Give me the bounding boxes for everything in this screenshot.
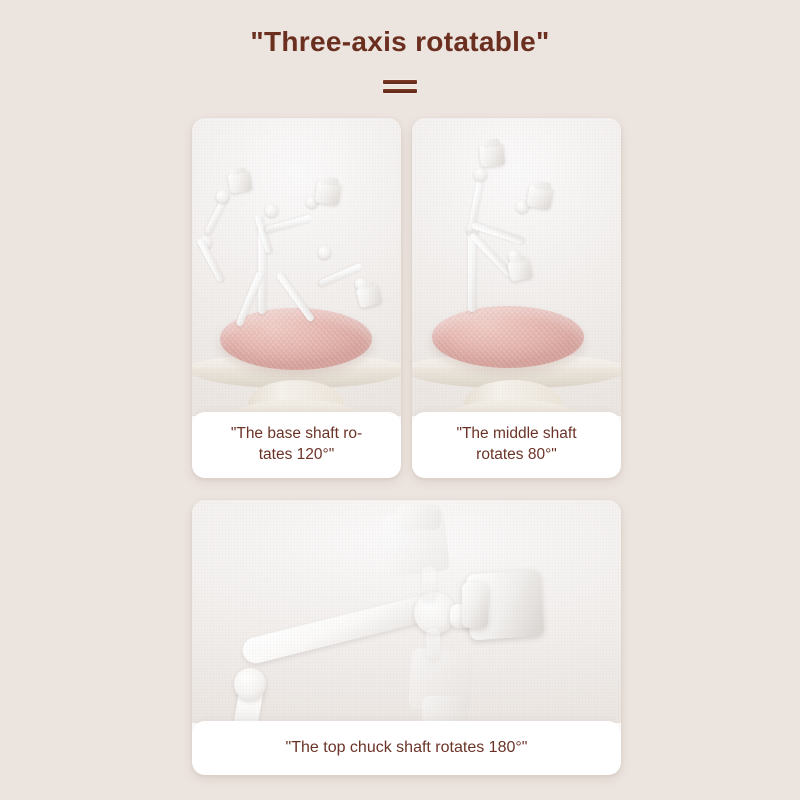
divider-bar-top: [383, 80, 417, 84]
feature-card-top-chuck-shaft[interactable]: "The top chuck shaft rotates 180°": [192, 500, 621, 775]
arm-chuck-right: [356, 284, 382, 309]
arm-joint-upper-left: [474, 168, 487, 181]
arm-chuck-lower: [507, 258, 533, 282]
feature-caption-top-chuck-shaft: "The top chuck shaft rotates 180°": [192, 721, 621, 775]
arm-joint-right-mid: [318, 246, 331, 259]
product-illustration-closeup: [192, 500, 621, 723]
arm-segment-center-right: [264, 214, 312, 234]
arm-chuck-ghost-upper-collar: [397, 504, 441, 530]
page-title: "Three-axis rotatable": [0, 26, 800, 58]
feature-caption-base-shaft: "The base shaft ro- tates 120°": [192, 412, 401, 478]
arm-chuck-collar: [462, 582, 488, 628]
caption-line-2: rotates 80°": [456, 445, 576, 466]
arm-chuck-top: [479, 143, 505, 167]
arm-joint-left-upper: [216, 190, 229, 203]
feature-card-middle-shaft[interactable]: "The middle shaft rotates 80°": [412, 118, 621, 478]
arm-joint-elbow: [234, 668, 266, 700]
pink-cushion-base: [432, 306, 584, 368]
product-photo-top-chuck: [192, 500, 621, 723]
arm-segment-ghost-lower: [426, 628, 440, 660]
product-illustration: [412, 118, 621, 416]
arm-segment-center-upper: [254, 214, 273, 254]
caption-line-1: "The top chuck shaft rotates 180°": [286, 737, 528, 759]
product-photo-base-shaft: [192, 118, 401, 416]
arm-chuck-ghost-lower-collar: [422, 696, 468, 723]
product-photo-middle-shaft: [412, 118, 621, 416]
arm-chuck-middle: [526, 184, 553, 210]
feature-card-base-shaft[interactable]: "The base shaft ro- tates 120°": [192, 118, 401, 478]
arm-segment-ghost-upper: [422, 566, 436, 602]
caption-line-2: tates 120°": [231, 445, 362, 466]
page-header: "Three-axis rotatable": [0, 0, 800, 118]
caption-line-1: "The middle shaft: [456, 424, 576, 445]
product-illustration: [192, 118, 401, 416]
feature-caption-middle-shaft: "The middle shaft rotates 80°": [412, 412, 621, 478]
divider-bar-bottom: [383, 89, 417, 93]
caption-line-1: "The base shaft ro-: [231, 424, 362, 445]
arm-chuck-center: [315, 180, 342, 205]
arm-joint-center-top: [265, 204, 278, 217]
product-feature-page: "Three-axis rotatable": [0, 0, 800, 800]
arm-chuck-left: [227, 170, 252, 194]
double-bar-divider-icon: [383, 80, 417, 93]
